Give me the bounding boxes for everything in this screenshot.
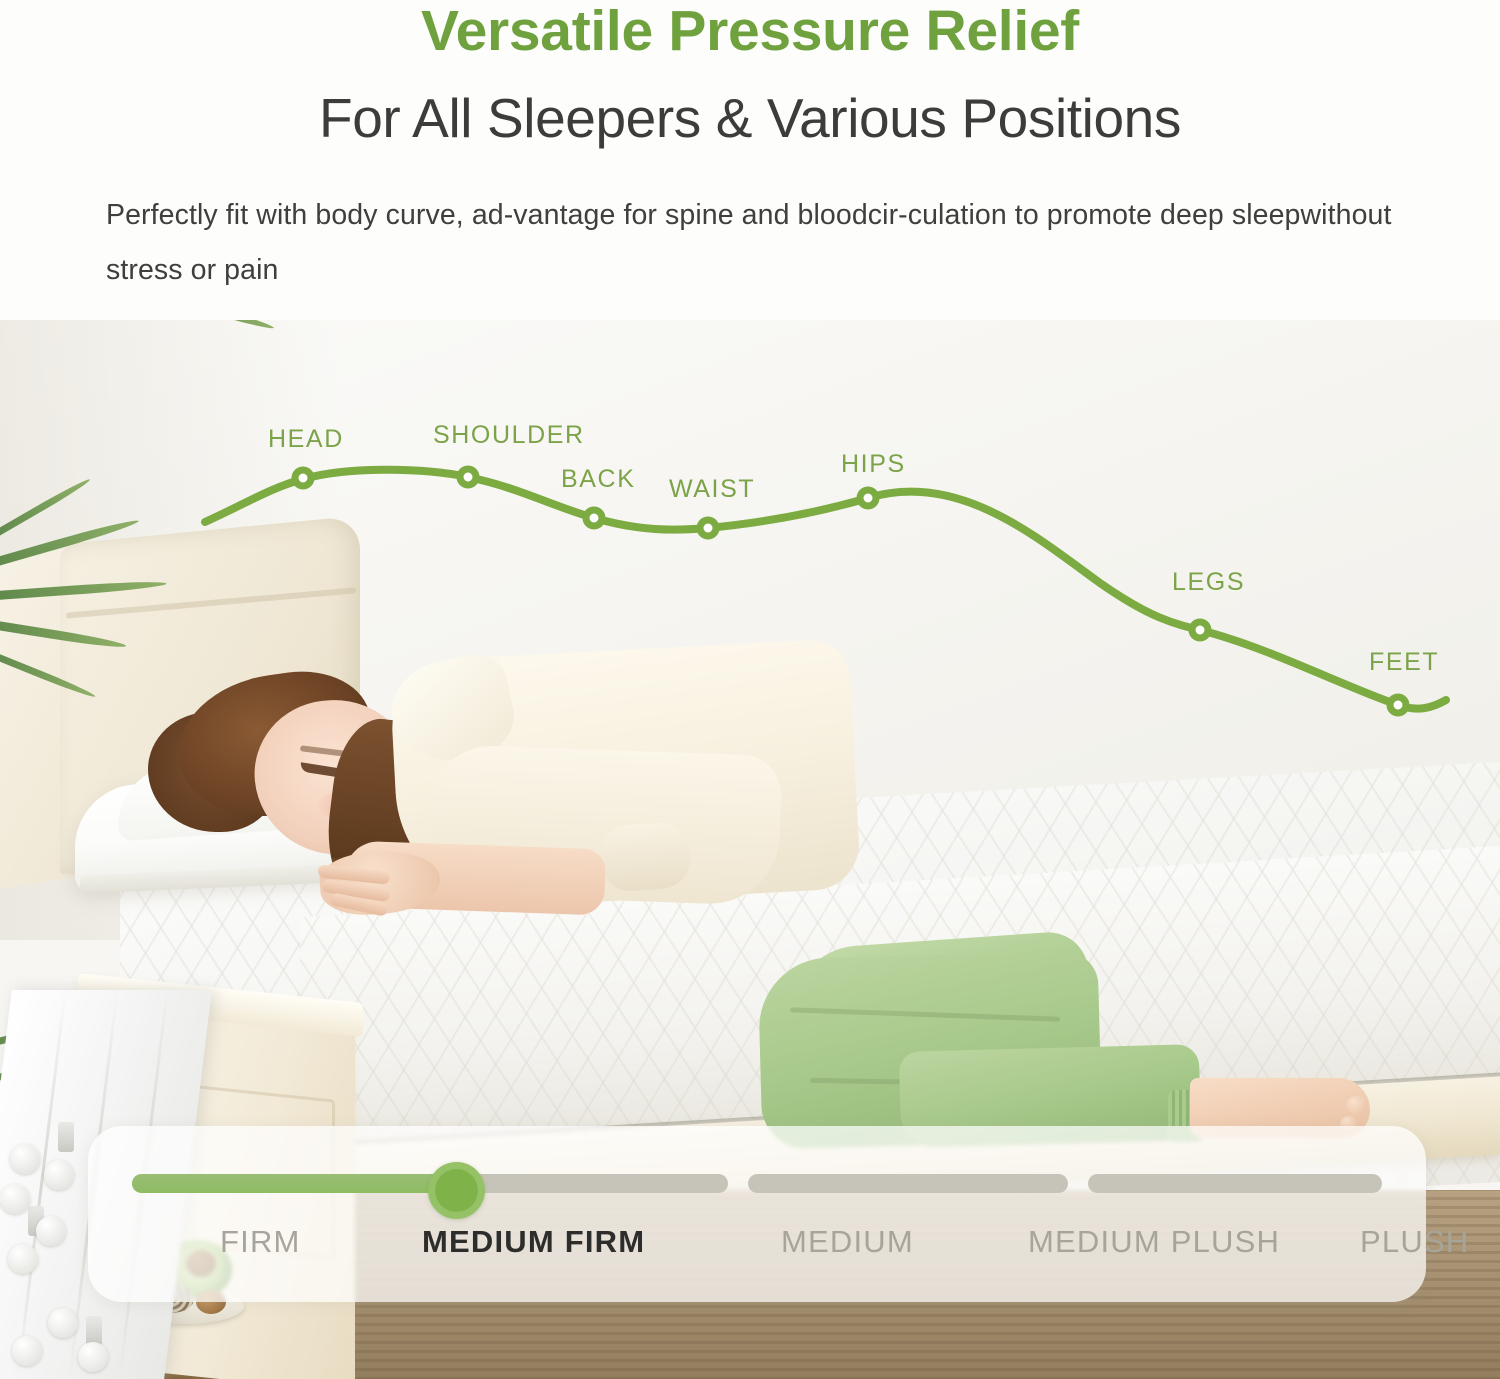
spine-label-head: HEAD	[268, 425, 344, 454]
firmness-option-plush[interactable]: PLUSH	[1360, 1224, 1469, 1260]
spine-label-shoulder: SHOULDER	[433, 421, 585, 450]
firmness-slider-track[interactable]	[132, 1174, 1382, 1193]
curtain-clip	[58, 1122, 74, 1152]
firmness-option-medium-plush[interactable]: MEDIUM PLUSH	[1028, 1224, 1280, 1260]
spine-label-feet: FEET	[1369, 648, 1439, 677]
firmness-option-labels: FIRMMEDIUM FIRMMEDIUMMEDIUM PLUSHPLUSH	[88, 1224, 1426, 1272]
curtain-pompom	[10, 1144, 40, 1174]
firmness-option-firm[interactable]: FIRM	[220, 1224, 301, 1260]
curtain-pompom	[12, 1336, 42, 1366]
curtain-pompom	[78, 1342, 108, 1372]
firmness-slider-filled	[132, 1174, 452, 1193]
spine-label-legs: LEGS	[1172, 568, 1245, 597]
firmness-selector-panel[interactable]: FIRMMEDIUM FIRMMEDIUMMEDIUM PLUSHPLUSH	[88, 1126, 1426, 1302]
firmness-option-medium-firm[interactable]: MEDIUM FIRM	[422, 1224, 645, 1260]
spine-label-waist: WAIST	[669, 475, 755, 504]
header: Versatile Pressure Relief For All Sleepe…	[0, 0, 1500, 320]
firmness-option-medium[interactable]: MEDIUM	[781, 1224, 914, 1260]
page-subtitle: For All Sleepers & Various Positions	[0, 86, 1500, 150]
firmness-track-segment-2[interactable]	[1088, 1174, 1382, 1193]
curtain-pompom	[8, 1244, 38, 1274]
curtain-pompom	[36, 1216, 66, 1246]
spine-label-hips: HIPS	[841, 450, 906, 479]
firmness-slider-thumb[interactable]	[428, 1162, 485, 1219]
curtain-pompom	[0, 1184, 30, 1214]
spine-label-back: BACK	[561, 465, 635, 494]
girl-sleeve-cuff	[598, 821, 692, 893]
page-title: Versatile Pressure Relief	[0, 0, 1500, 64]
firmness-track-segment-1[interactable]	[748, 1174, 1068, 1193]
curtain-pompom	[44, 1160, 74, 1190]
girl-toe	[1346, 1096, 1368, 1115]
page-description: Perfectly fit with body curve, ad-vantag…	[106, 188, 1426, 298]
curtain-pompom	[48, 1308, 78, 1338]
